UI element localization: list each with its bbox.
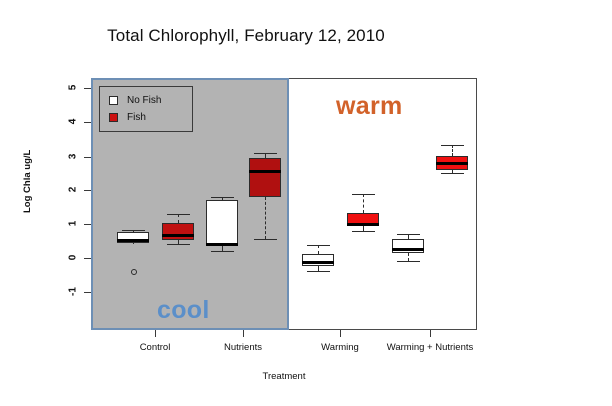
legend-entry-fish: Fish [109, 109, 192, 126]
ytick-label-4: 4 [68, 115, 79, 129]
whisker-upper [318, 245, 319, 254]
whisker-cap-lower [352, 231, 375, 232]
ytick-label-3: 3 [68, 150, 79, 164]
xtick-label-nutrients: Nutrients [203, 342, 283, 353]
ytick-mark-neg1 [84, 292, 91, 293]
whisker-lower [408, 253, 409, 261]
xtick-mark-control [155, 330, 156, 337]
xtick-label-warming: Warming [303, 342, 377, 353]
legend-entry-no-fish: No Fish [109, 92, 192, 109]
whisker-cap-upper [167, 214, 190, 215]
median-line [162, 234, 194, 237]
ytick-mark-2 [84, 190, 91, 191]
median-line [117, 239, 149, 242]
ytick-mark-0 [84, 258, 91, 259]
median-line [302, 261, 334, 264]
legend-label-fish: Fish [127, 112, 146, 123]
whisker-cap-lower [167, 244, 190, 245]
whisker-cap-lower [307, 271, 330, 272]
ytick-mark-4 [84, 122, 91, 123]
xtick-label-warming-nutrients: Warming + Nutrients [373, 342, 487, 353]
box [302, 254, 334, 266]
legend-swatch-fish [109, 113, 118, 122]
whisker-cap-lower [254, 239, 277, 240]
legend: No Fish Fish [99, 86, 193, 132]
food-web-diagram [492, 0, 612, 406]
ytick-label-5: 5 [68, 81, 79, 95]
xtick-mark-warming [340, 330, 341, 337]
whisker-cap-lower [211, 251, 234, 252]
x-axis-title: Treatment [91, 371, 477, 382]
box [249, 158, 281, 197]
ytick-mark-1 [84, 224, 91, 225]
page-title: Total Chlorophyll, February 12, 2010 [0, 26, 492, 46]
ytick-mark-5 [84, 88, 91, 89]
whisker-cap-lower [441, 173, 464, 174]
y-axis-title: Log Chla ug/L [22, 150, 33, 213]
chart-figure: Total Chlorophyll, February 12, 2010 5 4… [0, 0, 492, 406]
xtick-label-control: Control [115, 342, 195, 353]
ytick-label-0: 0 [68, 251, 79, 265]
ytick-label-neg1: -1 [68, 285, 79, 299]
warm-annotation: warm [336, 92, 403, 121]
median-line [249, 170, 281, 173]
legend-label-no-fish: No Fish [127, 95, 161, 106]
median-line [392, 248, 424, 251]
xtick-mark-nutrients [243, 330, 244, 337]
whisker-lower [265, 197, 266, 239]
median-line [436, 162, 468, 165]
outlier-point [131, 269, 137, 275]
whisker-cap-lower [397, 261, 420, 262]
whisker-upper [452, 145, 453, 156]
xtick-mark-warming-nutrients [430, 330, 431, 337]
whisker-upper [363, 194, 364, 213]
ytick-label-2: 2 [68, 183, 79, 197]
ytick-mark-3 [84, 157, 91, 158]
cool-annotation: cool [157, 296, 210, 325]
box [206, 200, 238, 244]
legend-swatch-no-fish [109, 96, 118, 105]
box [162, 223, 194, 240]
ytick-label-1: 1 [68, 217, 79, 231]
